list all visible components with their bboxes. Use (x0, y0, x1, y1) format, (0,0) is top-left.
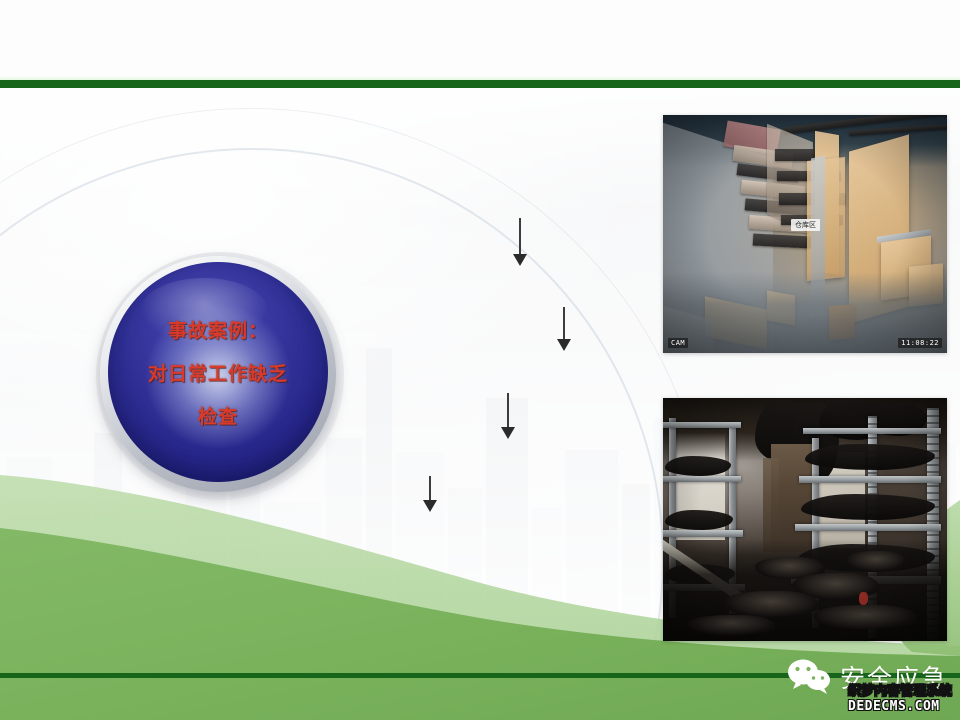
slide-canvas: 事故案例： 对日常工作缺乏 检查 1、承租方对承包商铺 进行装修改造 2、改造的… (0, 0, 960, 720)
cctv-warehouse-photo: 仓库区 CAM 11:08:22 (663, 115, 947, 353)
arrow-2-to-3 (556, 307, 572, 351)
burnt-warehouse-photo (663, 398, 947, 641)
arrow-3-to-4 (500, 393, 516, 439)
badge-line-2: 对日常工作缺乏 (148, 359, 288, 386)
accident-case-badge-text: 事故案例： 对日常工作缺乏 检查 (108, 262, 328, 482)
top-green-rule (0, 80, 960, 88)
watermark-en: DEDECMS.COM (848, 699, 952, 714)
site-watermark: 织梦内容管理系统 DEDECMS.COM (848, 684, 952, 714)
wechat-icon (786, 658, 832, 696)
top-white-band (0, 0, 960, 80)
arrow-1-to-2 (512, 218, 528, 266)
arrow-4-to-5 (422, 476, 438, 512)
watermark-cn: 织梦内容管理系统 (848, 684, 952, 699)
badge-line-3: 检查 (198, 402, 238, 429)
cctv-inner-tag: 仓库区 (791, 219, 820, 231)
cctv-overlay-right: 11:08:22 (898, 338, 942, 348)
cctv-overlay-left: CAM (668, 338, 688, 348)
badge-line-1: 事故案例： (168, 316, 268, 343)
